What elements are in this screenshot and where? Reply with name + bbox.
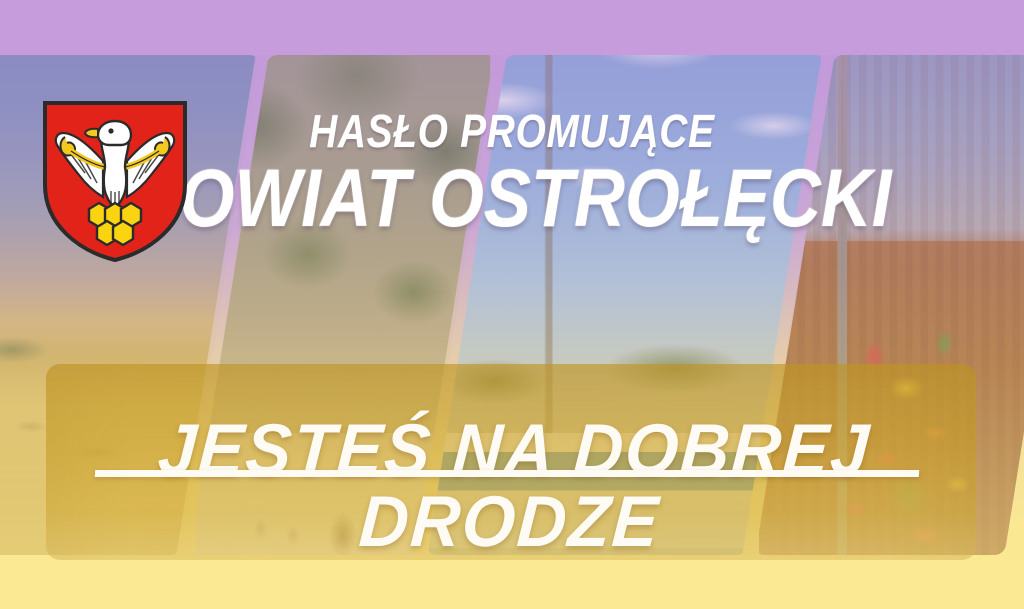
slogan-underline <box>95 470 919 477</box>
coat-of-arms <box>41 99 189 264</box>
promotional-poster: HASŁO PROMUJĄCE POWIAT OSTROŁĘCKI JESTEŚ… <box>0 0 1024 609</box>
slogan-gold-band <box>46 364 976 560</box>
